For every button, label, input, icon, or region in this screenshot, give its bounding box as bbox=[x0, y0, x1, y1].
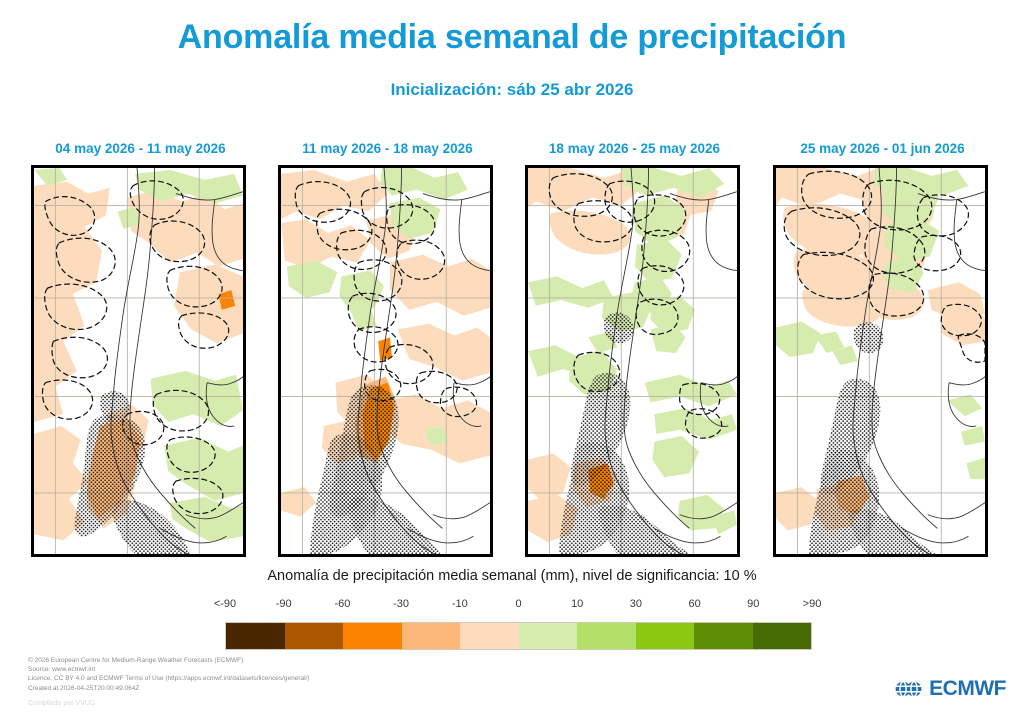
colorbar-caption: Anomalía de precipitación media semanal … bbox=[0, 568, 1024, 584]
ecmwf-logo: ECMWF bbox=[894, 676, 1006, 702]
forecast-panel-3[interactable]: 18 may 2026 - 25 may 2026 bbox=[522, 140, 747, 565]
footer-created-at: Created at 2026-04-25T20:00:49.064Z bbox=[28, 684, 668, 693]
panel-3-title: 18 may 2026 - 25 may 2026 bbox=[522, 140, 747, 162]
map-graphic-3 bbox=[528, 168, 737, 554]
forecast-panel-4[interactable]: 25 may 2026 - 01 jun 2026 bbox=[770, 140, 995, 565]
panel-2-map[interactable] bbox=[278, 165, 493, 557]
colorbar-cell-5 bbox=[519, 623, 578, 649]
panel-4-title: 25 may 2026 - 01 jun 2026 bbox=[770, 140, 995, 162]
footer-source: Source: www.ecmwf.int bbox=[28, 665, 668, 674]
colorbar-tick-5: 0 bbox=[515, 598, 521, 610]
forecast-panel-1[interactable]: 04 may 2026 - 11 may 2026 bbox=[28, 140, 253, 565]
forecast-panels: 04 may 2026 - 11 may 2026 bbox=[0, 140, 1024, 565]
colorbar-ticks: <-90-90-60-30-10010306090>90 bbox=[225, 598, 812, 614]
colorbar-cell-6 bbox=[577, 623, 636, 649]
colorbar-cell-7 bbox=[636, 623, 695, 649]
colorbar-tick-2: -60 bbox=[334, 598, 350, 610]
map-graphic-4 bbox=[776, 168, 985, 554]
colorbar-tick-6: 10 bbox=[571, 598, 583, 610]
map-graphic-2 bbox=[281, 168, 490, 554]
colorbar-cell-4 bbox=[460, 623, 519, 649]
colorbar-cell-9 bbox=[753, 623, 812, 649]
colorbar-cell-8 bbox=[694, 623, 753, 649]
ecmwf-logo-text: ECMWF bbox=[929, 677, 1006, 701]
ecmwf-globe-icon bbox=[894, 679, 924, 699]
colorbar-cell-2 bbox=[343, 623, 402, 649]
colorbar[interactable] bbox=[225, 622, 812, 650]
page-title: Anomalía media semanal de precipitación bbox=[0, 18, 1024, 57]
panel-2-title: 11 may 2026 - 18 may 2026 bbox=[275, 140, 500, 162]
colorbar-tick-9: 90 bbox=[747, 598, 759, 610]
colorbar-tick-7: 30 bbox=[630, 598, 642, 610]
footer-licence: Licence: CC BY 4.0 and ECMWF Terms of Us… bbox=[28, 674, 668, 683]
footer-copyright: © 2026 European Centre for Medium-Range … bbox=[28, 656, 668, 665]
initialization-subtitle: Inicialización: sáb 25 abr 2026 bbox=[0, 80, 1024, 100]
colorbar-tick-3: -30 bbox=[393, 598, 409, 610]
colorbar-tick-0: <-90 bbox=[214, 598, 236, 610]
colorbar-cell-1 bbox=[285, 623, 344, 649]
colorbar-tick-8: 60 bbox=[688, 598, 700, 610]
colorbar-cell-3 bbox=[402, 623, 461, 649]
panel-1-map[interactable] bbox=[31, 165, 246, 557]
forecast-panel-2[interactable]: 11 may 2026 - 18 may 2026 bbox=[275, 140, 500, 565]
footer-credits: © 2026 European Centre for Medium-Range … bbox=[28, 656, 668, 693]
colorbar-tick-4: -10 bbox=[452, 598, 468, 610]
colorbar-tick-1: -90 bbox=[276, 598, 292, 610]
map-graphic-1 bbox=[34, 168, 243, 554]
colorbar-tick-10: >90 bbox=[803, 598, 822, 610]
compiler-watermark: Compilado por VVUG bbox=[28, 700, 95, 707]
panel-4-map[interactable] bbox=[773, 165, 988, 557]
panel-3-map[interactable] bbox=[525, 165, 740, 557]
colorbar-cell-0 bbox=[226, 623, 285, 649]
panel-1-title: 04 may 2026 - 11 may 2026 bbox=[28, 140, 253, 162]
